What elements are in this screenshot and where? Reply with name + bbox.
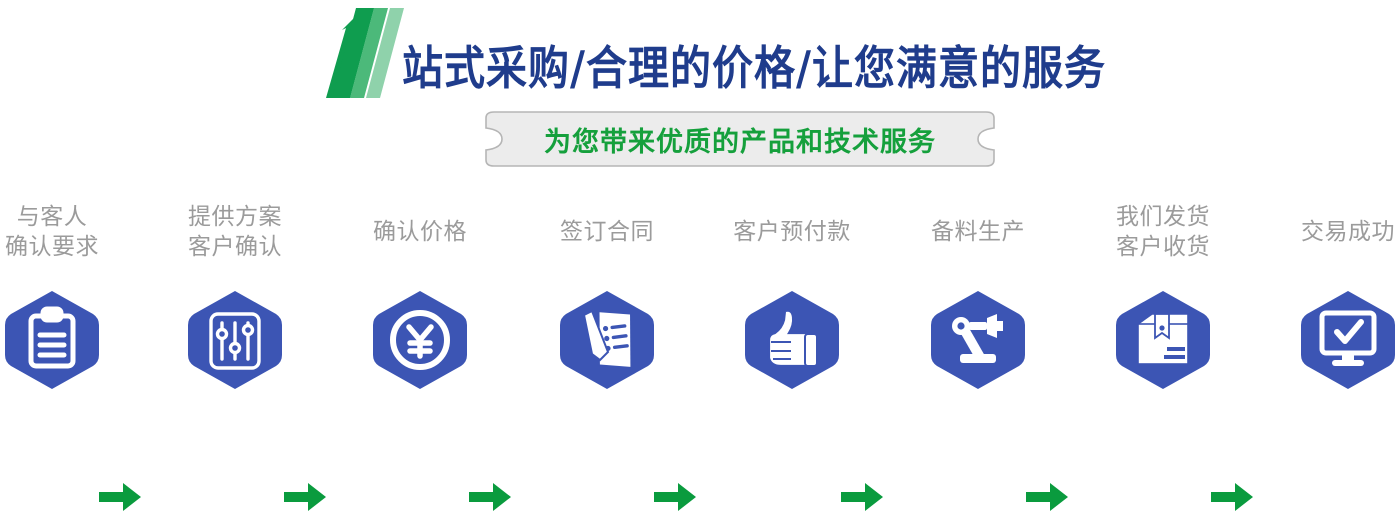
- flow-step-2-label: 提供方案 客户确认: [160, 202, 310, 262]
- flow-step-2-label-line2: 客户确认: [160, 232, 310, 262]
- flow-step-6-hexagon[interactable]: [930, 290, 1026, 390]
- flow-arrow-7: [1209, 480, 1255, 514]
- page-title: 站式采购/合理的价格/让您满意的服务: [402, 30, 1106, 97]
- subtitle-text: 为您带来优质的产品和技术服务: [478, 110, 1002, 168]
- flow-arrow-1: [97, 480, 143, 514]
- flow-step-1-label-line2: 确认要求: [0, 232, 127, 262]
- flow-step-4-label: 签订合同: [532, 217, 682, 247]
- flow-arrow-2: [282, 480, 328, 514]
- header: 站式采购/合理的价格/让您满意的服务: [0, 0, 1400, 100]
- flow-step-5-hexagon[interactable]: [744, 290, 840, 390]
- flow-step-1-hexagon[interactable]: [4, 290, 100, 390]
- flow-step-7-label-line2: 客户收货: [1088, 232, 1238, 262]
- flow-arrow-5: [839, 480, 885, 514]
- flow-step-4-hexagon[interactable]: [559, 290, 655, 390]
- flow-step-3-hexagon[interactable]: [372, 290, 468, 390]
- promo-banner: 站式采购/合理的价格/让您满意的服务 为您带来优质的产品和技术服务 与客人 确认…: [0, 0, 1400, 450]
- subtitle-ribbon: 为您带来优质的产品和技术服务: [478, 110, 1002, 168]
- flow-step-7-label: 我们发货 客户收货: [1088, 202, 1238, 262]
- process-flow: 与客人 确认要求 提供方案 客户: [0, 190, 1400, 410]
- flow-step-2-hexagon[interactable]: [187, 290, 283, 390]
- flow-step-8-label: 交易成功: [1273, 217, 1400, 247]
- flow-step-3-label: 确认价格: [345, 217, 495, 247]
- flow-step-8-hexagon[interactable]: [1300, 290, 1396, 390]
- flow-step-1-label-line1: 与客人: [0, 202, 127, 232]
- flow-step-1-label: 与客人 确认要求: [0, 202, 127, 262]
- flow-arrow-3: [467, 480, 513, 514]
- package-box-icon: [1138, 314, 1188, 364]
- flow-step-7-hexagon[interactable]: [1115, 290, 1211, 390]
- flow-step-8-label-line1: 交易成功: [1273, 217, 1400, 247]
- flow-step-5-label: 客户预付款: [717, 217, 867, 247]
- flow-step-4[interactable]: 签订合同: [532, 190, 682, 410]
- flow-step-4-label-line1: 签订合同: [532, 217, 682, 247]
- flow-step-2[interactable]: 提供方案 客户确认: [160, 190, 310, 410]
- flow-step-3[interactable]: 确认价格: [345, 190, 495, 410]
- flow-step-1[interactable]: 与客人 确认要求: [0, 190, 127, 410]
- flow-step-6-label-line1: 备料生产: [903, 217, 1053, 247]
- flow-step-6[interactable]: 备料生产: [903, 190, 1053, 410]
- flow-step-3-label-line1: 确认价格: [345, 217, 495, 247]
- flow-step-7-label-line1: 我们发货: [1088, 202, 1238, 232]
- flow-step-5-label-line1: 客户预付款: [717, 217, 867, 247]
- numeral-one-logo-icon: [312, 6, 412, 98]
- flow-arrow-4: [652, 480, 698, 514]
- flow-step-8[interactable]: 交易成功: [1273, 190, 1400, 410]
- flow-step-6-label: 备料生产: [903, 217, 1053, 247]
- flow-step-7[interactable]: 我们发货 客户收货: [1088, 190, 1238, 410]
- flow-step-5[interactable]: 客户预付款: [717, 190, 867, 410]
- flow-arrow-6: [1024, 480, 1070, 514]
- flow-step-2-label-line1: 提供方案: [160, 202, 310, 232]
